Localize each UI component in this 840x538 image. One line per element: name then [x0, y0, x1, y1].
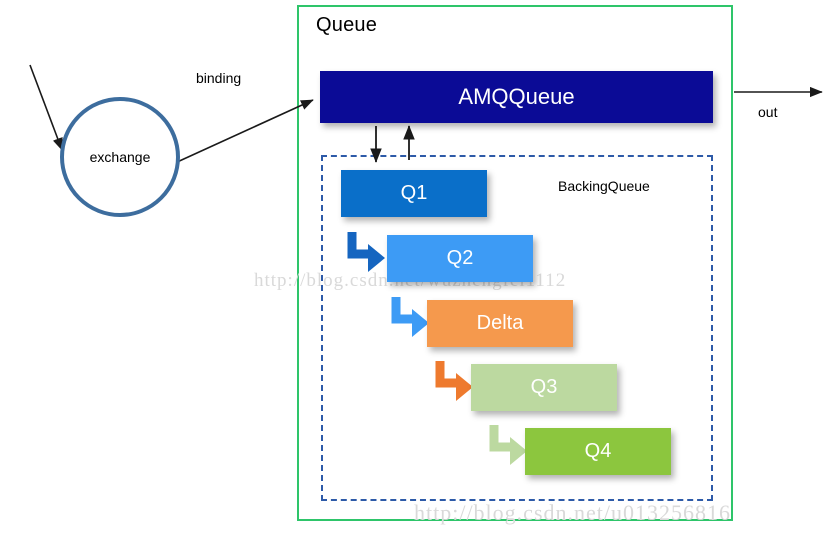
- queue-box-label: Q4: [585, 440, 612, 463]
- queue-box-label: Q2: [447, 247, 474, 270]
- queue-box-delta[interactable]: Delta: [427, 300, 573, 347]
- incoming-arrow: [30, 65, 62, 150]
- amqqueue-label: AMQQueue: [458, 84, 574, 110]
- backing-queue-label: BackingQueue: [558, 178, 650, 194]
- queue-box-label: Delta: [477, 312, 524, 335]
- diagram-canvas: Queue http://blog.csdn.net/wuzhengfei111…: [0, 0, 840, 538]
- queue-title: Queue: [316, 14, 377, 37]
- queue-box-q4[interactable]: Q4: [525, 428, 671, 475]
- queue-box-q3[interactable]: Q3: [471, 364, 617, 411]
- binding-arrow: [175, 100, 313, 163]
- binding-label: binding: [196, 70, 241, 86]
- queue-box-label: Q1: [401, 182, 428, 205]
- watermark-bottom: http://blog.csdn.net/u013256816: [414, 500, 731, 526]
- exchange-label: exchange: [90, 149, 151, 165]
- out-label: out: [758, 104, 777, 120]
- queue-box-q2[interactable]: Q2: [387, 235, 533, 282]
- queue-box-q1[interactable]: Q1: [341, 170, 487, 217]
- queue-box-label: Q3: [531, 376, 558, 399]
- amqqueue-box[interactable]: AMQQueue: [320, 71, 713, 123]
- exchange-node[interactable]: exchange: [60, 97, 180, 217]
